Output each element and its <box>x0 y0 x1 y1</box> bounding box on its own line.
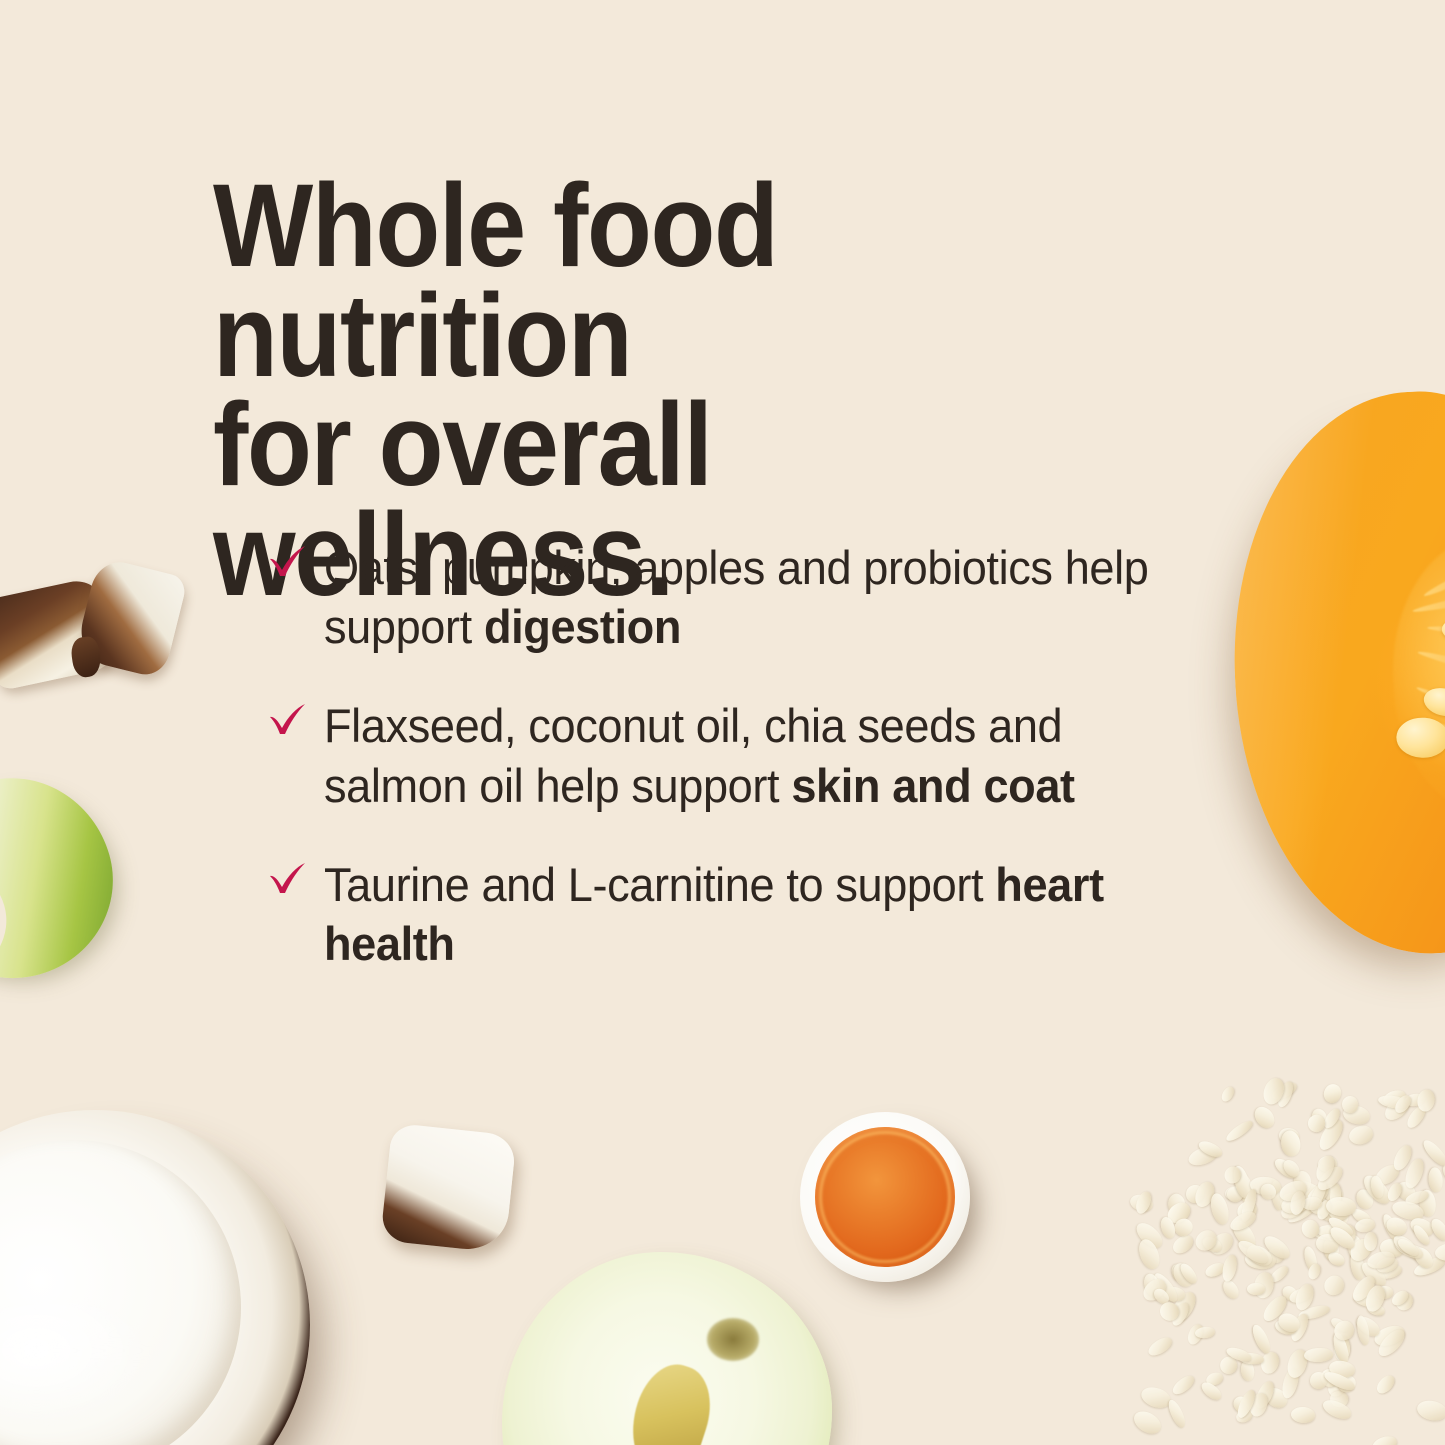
benefits-list: Oats, pumpkin, apples and probiotics hel… <box>268 538 1198 973</box>
benefit-text: Taurine and L-carnitine to support heart… <box>324 855 1163 973</box>
check-icon <box>268 544 314 578</box>
benefit-emphasis: digestion <box>484 600 681 653</box>
list-item: Flaxseed, coconut oil, chia seeds and sa… <box>268 696 1198 814</box>
benefit-emphasis: skin and coat <box>791 759 1074 812</box>
benefit-text: Oats, pumpkin, apples and probiotics hel… <box>324 538 1163 656</box>
promotional-banner: Whole food nutrition for overall wellnes… <box>0 0 1445 1445</box>
check-icon <box>268 861 314 895</box>
content-layer: Whole food nutrition for overall wellnes… <box>0 0 1445 1445</box>
benefit-lead: Oats, pumpkin, apples and probiotics hel… <box>324 541 1148 653</box>
benefit-lead: Taurine and L-carnitine to support <box>324 858 995 911</box>
list-item: Taurine and L-carnitine to support heart… <box>268 855 1198 973</box>
list-item: Oats, pumpkin, apples and probiotics hel… <box>268 538 1198 656</box>
benefit-text: Flaxseed, coconut oil, chia seeds and sa… <box>324 696 1163 814</box>
check-icon <box>268 702 314 736</box>
